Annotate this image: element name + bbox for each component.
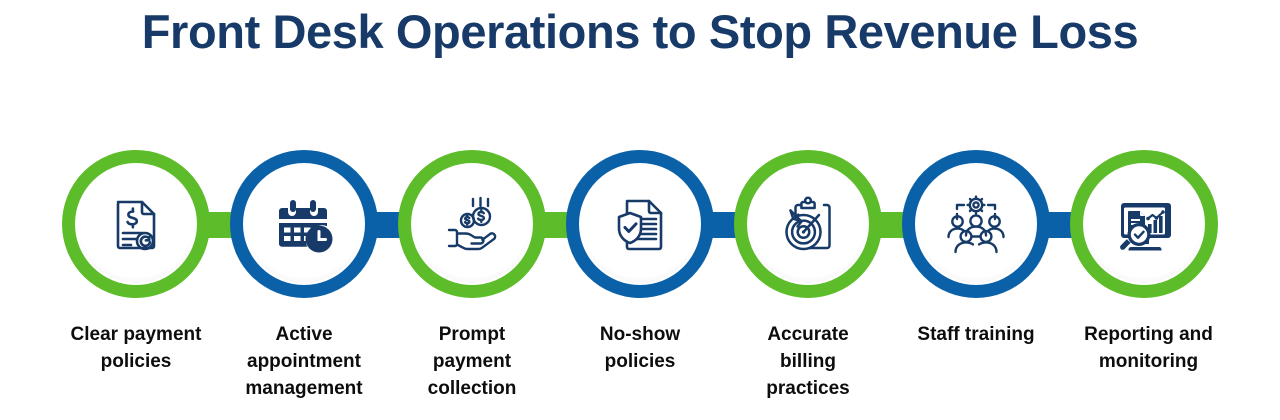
step-label-2: Active appointment management (214, 322, 394, 403)
step-label-6: Staff training (886, 322, 1066, 349)
step-label-3-line-1: Prompt (382, 322, 562, 349)
step-label-2-line-1: Active (214, 322, 394, 349)
step-label-5: Accurate billing practices (718, 322, 898, 403)
step-label-2-line-2: appointment (214, 349, 394, 376)
step-node-5[interactable] (734, 150, 882, 298)
step-node-6[interactable] (902, 150, 1050, 298)
step-label-7-line-1: Reporting and (1056, 322, 1241, 349)
step-label-1-line-2: policies (46, 349, 226, 376)
step-label-1-line-1: Clear payment (46, 322, 226, 349)
team-gear-icon (934, 182, 1018, 266)
monitor-report-search-icon (1102, 182, 1186, 266)
invoice-dollar-icon (94, 182, 178, 266)
step-label-5-line-1: Accurate (718, 322, 898, 349)
step-label-1: Clear payment policies (46, 322, 226, 376)
step-node-2[interactable] (230, 150, 378, 298)
step-label-2-line-3: management (214, 376, 394, 403)
step-label-5-line-2: billing (718, 349, 898, 376)
process-chain (0, 150, 1280, 300)
page-title: Front Desk Operations to Stop Revenue Lo… (0, 4, 1280, 59)
step-label-6-line-1: Staff training (886, 322, 1066, 349)
step-label-3-line-3: collection (382, 376, 562, 403)
clipboard-target-arrow-icon (766, 182, 850, 266)
step-label-3-line-2: payment (382, 349, 562, 376)
step-label-7-line-2: monitoring (1056, 349, 1241, 376)
document-shield-check-icon (598, 182, 682, 266)
step-label-4-line-2: policies (550, 349, 730, 376)
step-label-4-line-1: No-show (550, 322, 730, 349)
calendar-clock-icon (262, 182, 346, 266)
hand-coins-icon (430, 182, 514, 266)
step-node-3[interactable] (398, 150, 546, 298)
step-labels: Clear payment policies Active appointmen… (0, 322, 1280, 420)
step-node-1[interactable] (62, 150, 210, 298)
step-label-3: Prompt payment collection (382, 322, 562, 403)
step-label-5-line-3: practices (718, 376, 898, 403)
step-label-7: Reporting and monitoring (1056, 322, 1241, 376)
step-node-4[interactable] (566, 150, 714, 298)
step-node-7[interactable] (1070, 150, 1218, 298)
step-label-4: No-show policies (550, 322, 730, 376)
infographic-canvas: Front Desk Operations to Stop Revenue Lo… (0, 0, 1280, 420)
